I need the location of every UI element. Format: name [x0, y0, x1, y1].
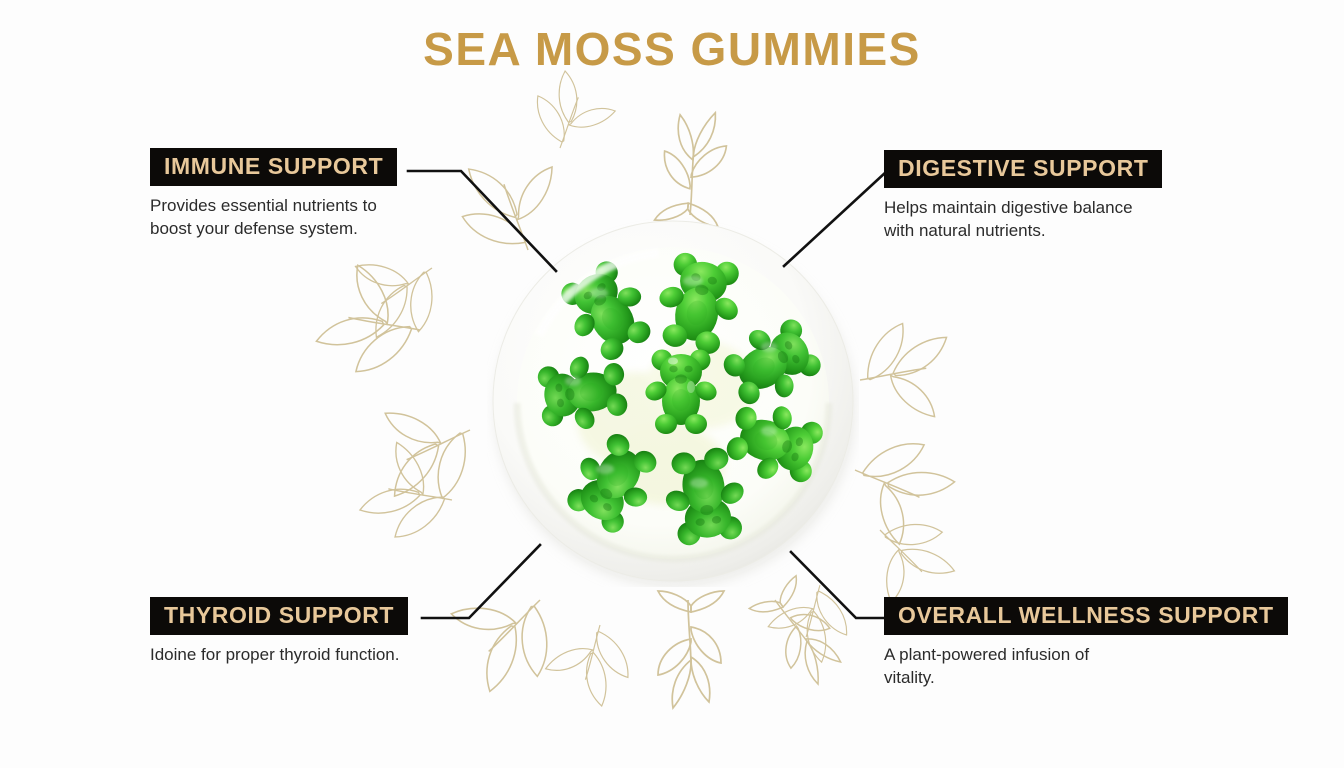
badge-immune-support[interactable]: IMMUNE SUPPORT: [150, 148, 397, 186]
callout-immune-support: IMMUNE SUPPORT Provides essential nutrie…: [150, 148, 397, 241]
description-digestive-support: Helps maintain digestive balance with na…: [884, 197, 1162, 243]
description-thyroid-support: Idoine for proper thyroid function.: [150, 644, 408, 667]
description-immune-support: Provides essential nutrients to boost yo…: [150, 195, 397, 241]
infographic-canvas: IMMUNE SUPPORT Provides essential nutrie…: [0, 0, 1344, 768]
description-overall-wellness-support: A plant-powered infusion of vitality.: [884, 644, 1288, 690]
badge-thyroid-support[interactable]: THYROID SUPPORT: [150, 597, 408, 635]
badge-digestive-support[interactable]: DIGESTIVE SUPPORT: [884, 150, 1162, 188]
badge-overall-wellness-support[interactable]: OVERALL WELLNESS SUPPORT: [884, 597, 1288, 635]
callout-thyroid-support: THYROID SUPPORT Idoine for proper thyroi…: [150, 597, 408, 667]
callout-digestive-support: DIGESTIVE SUPPORT Helps maintain digesti…: [884, 150, 1162, 243]
product-photo-bowl-of-gummies: [487, 215, 859, 587]
callout-overall-wellness-support: OVERALL WELLNESS SUPPORT A plant-powered…: [884, 597, 1288, 690]
page-title: SEA MOSS GUMMIES: [0, 22, 1344, 76]
